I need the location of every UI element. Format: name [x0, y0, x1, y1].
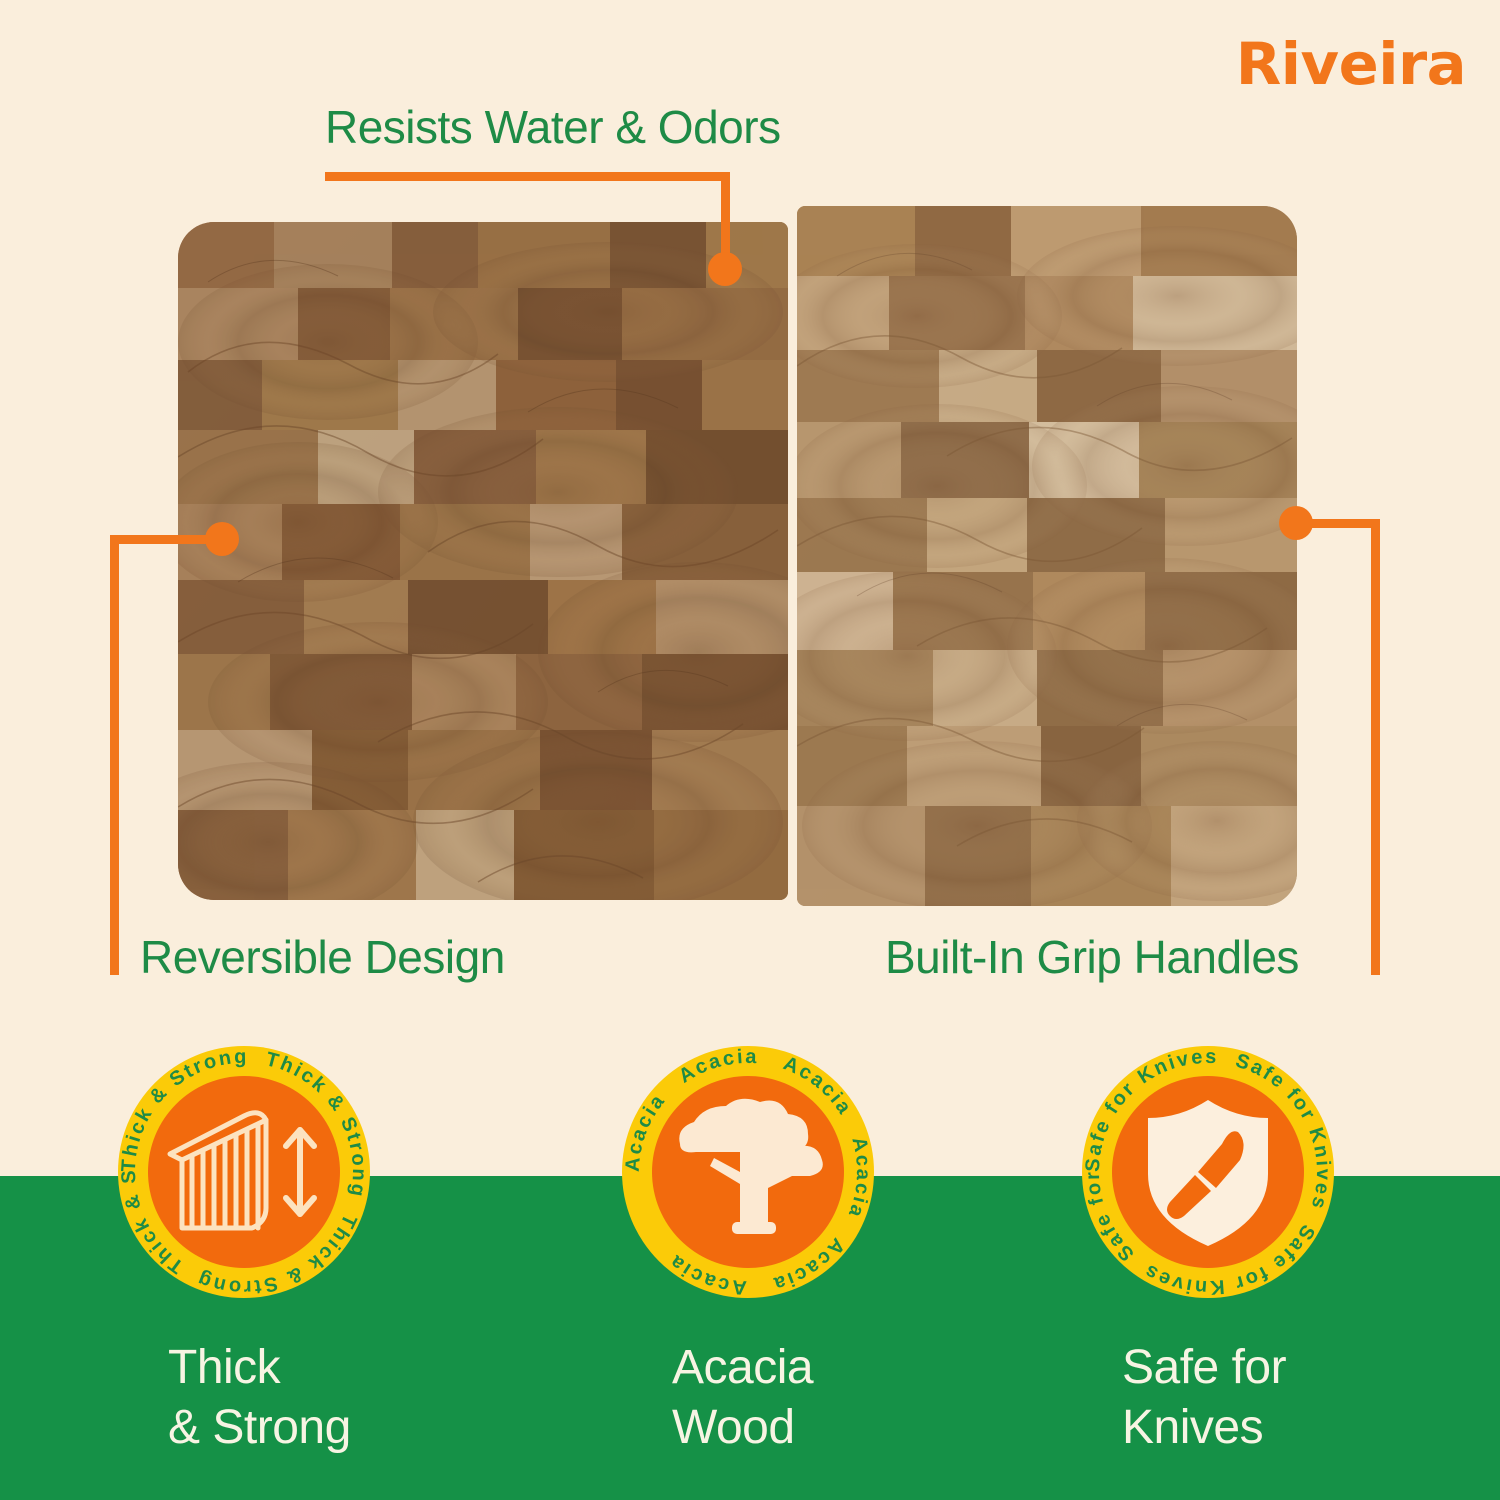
badge-title-acacia-wood: Acacia Wood [672, 1338, 813, 1458]
callout-dot-reversible-design [205, 522, 239, 556]
badge-safe-for-knives: Safe for Knives Safe for Knives Safe for… [1082, 1046, 1334, 1298]
callout-line-top-horizontal [325, 172, 730, 181]
callout-label-resists-water-odors: Resists Water & Odors [325, 100, 781, 154]
callout-dot-built-in-grip-handles [1279, 506, 1313, 540]
callout-label-built-in-grip-handles: Built-In Grip Handles [885, 930, 1299, 984]
cutting-board-right [797, 206, 1297, 906]
callout-line-right-vertical [1371, 519, 1380, 975]
callout-line-left-vertical [110, 535, 119, 975]
callout-line-top-vertical [721, 172, 730, 264]
badge-title-safe-for-knives: Safe for Knives [1122, 1338, 1286, 1458]
callout-dot-resists-water-odors [708, 252, 742, 286]
badge-thick-strong: Thick & Strong Thick & Strong Thick & St… [118, 1046, 370, 1298]
shield-knife-icon [1112, 1076, 1304, 1268]
cutting-board-thickness-icon [148, 1076, 340, 1268]
callout-label-reversible-design: Reversible Design [140, 930, 505, 984]
acacia-tree-icon [652, 1076, 844, 1268]
wood-grain-right [797, 206, 1297, 906]
cutting-board-left [178, 222, 788, 900]
badge-title-thick-strong: Thick & Strong [168, 1338, 351, 1458]
infographic-canvas: Riveira [0, 0, 1500, 1500]
badge-acacia-wood: Acacia Acacia Acacia Acacia Acacia Acaci… [622, 1046, 874, 1298]
wood-grain-left [178, 222, 788, 900]
callout-line-left-horizontal [110, 535, 215, 544]
brand-logo: Riveira [1236, 30, 1466, 98]
